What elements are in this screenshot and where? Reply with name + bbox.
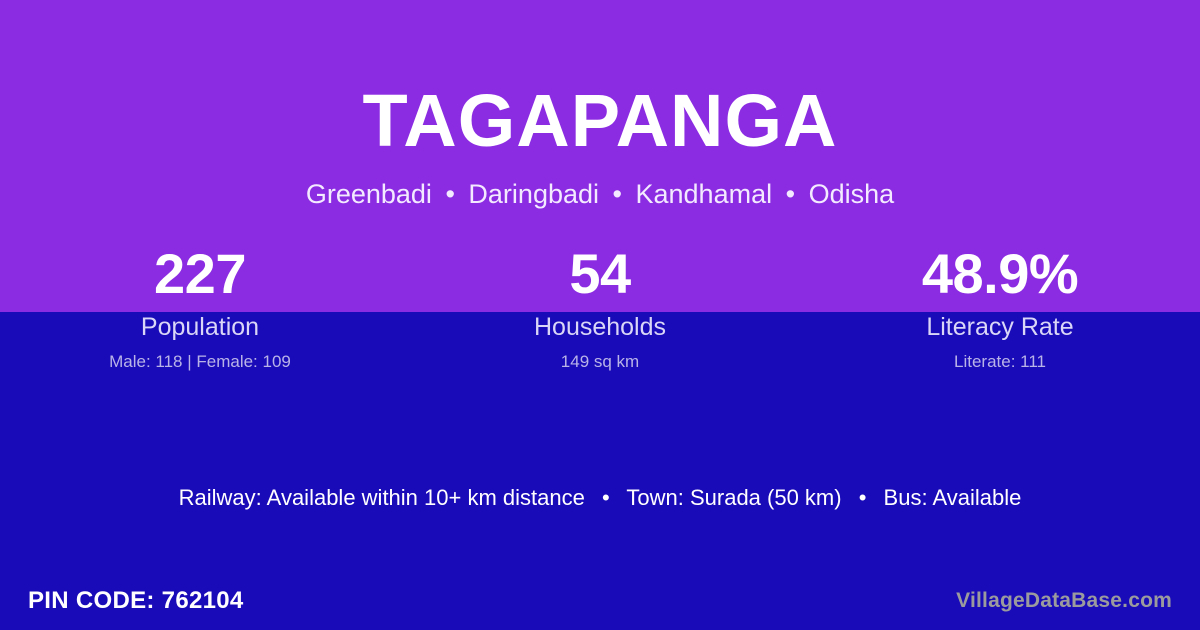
breadcrumb-separator-icon: • — [780, 179, 801, 209]
hero-section: TAGAPANGA Greenbadi • Daringbadi • Kandh… — [0, 0, 1200, 210]
stat-label: Literacy Rate — [800, 313, 1200, 342]
breadcrumb: Greenbadi • Daringbadi • Kandhamal • Odi… — [0, 158, 1200, 210]
breadcrumb-separator-icon: • — [607, 179, 628, 209]
stat-value: 48.9% — [800, 244, 1200, 304]
stat-value: 227 — [0, 244, 400, 304]
stat-households: 54 Households 149 sq km — [400, 244, 800, 372]
stat-sublabel: 149 sq km — [400, 352, 800, 372]
stat-literacy-rate: 48.9% Literacy Rate Literate: 111 — [800, 244, 1200, 372]
stat-label: Population — [0, 313, 400, 342]
breadcrumb-separator-icon: • — [439, 179, 460, 209]
info-item-railway: Railway: Available within 10+ km distanc… — [179, 485, 585, 510]
footer: PIN CODE: 762104 VillageDataBase.com — [0, 572, 1200, 630]
breadcrumb-item-3: Odisha — [809, 179, 895, 209]
stat-value: 54 — [400, 244, 800, 304]
stat-sublabel: Male: 118 | Female: 109 — [0, 352, 400, 372]
stat-sublabel: Literate: 111 — [800, 352, 1200, 372]
info-item-bus: Bus: Available — [884, 485, 1022, 510]
village-info-card: TAGAPANGA Greenbadi • Daringbadi • Kandh… — [0, 0, 1200, 630]
stat-population: 227 Population Male: 118 | Female: 109 — [0, 244, 400, 372]
stats-row: 227 Population Male: 118 | Female: 109 5… — [0, 244, 1200, 372]
info-item-town: Town: Surada (50 km) — [626, 485, 841, 510]
page-title: TAGAPANGA — [0, 0, 1200, 158]
breadcrumb-item-0: Greenbadi — [306, 179, 432, 209]
info-separator-icon: • — [848, 485, 878, 510]
info-separator-icon: • — [591, 485, 621, 510]
breadcrumb-item-2: Kandhamal — [636, 179, 773, 209]
brand-watermark: VillageDataBase.com — [956, 589, 1172, 613]
connectivity-info-line: Railway: Available within 10+ km distanc… — [0, 484, 1200, 513]
breadcrumb-item-1: Daringbadi — [468, 179, 599, 209]
stat-label: Households — [400, 313, 800, 342]
pin-code: PIN CODE: 762104 — [28, 587, 244, 615]
